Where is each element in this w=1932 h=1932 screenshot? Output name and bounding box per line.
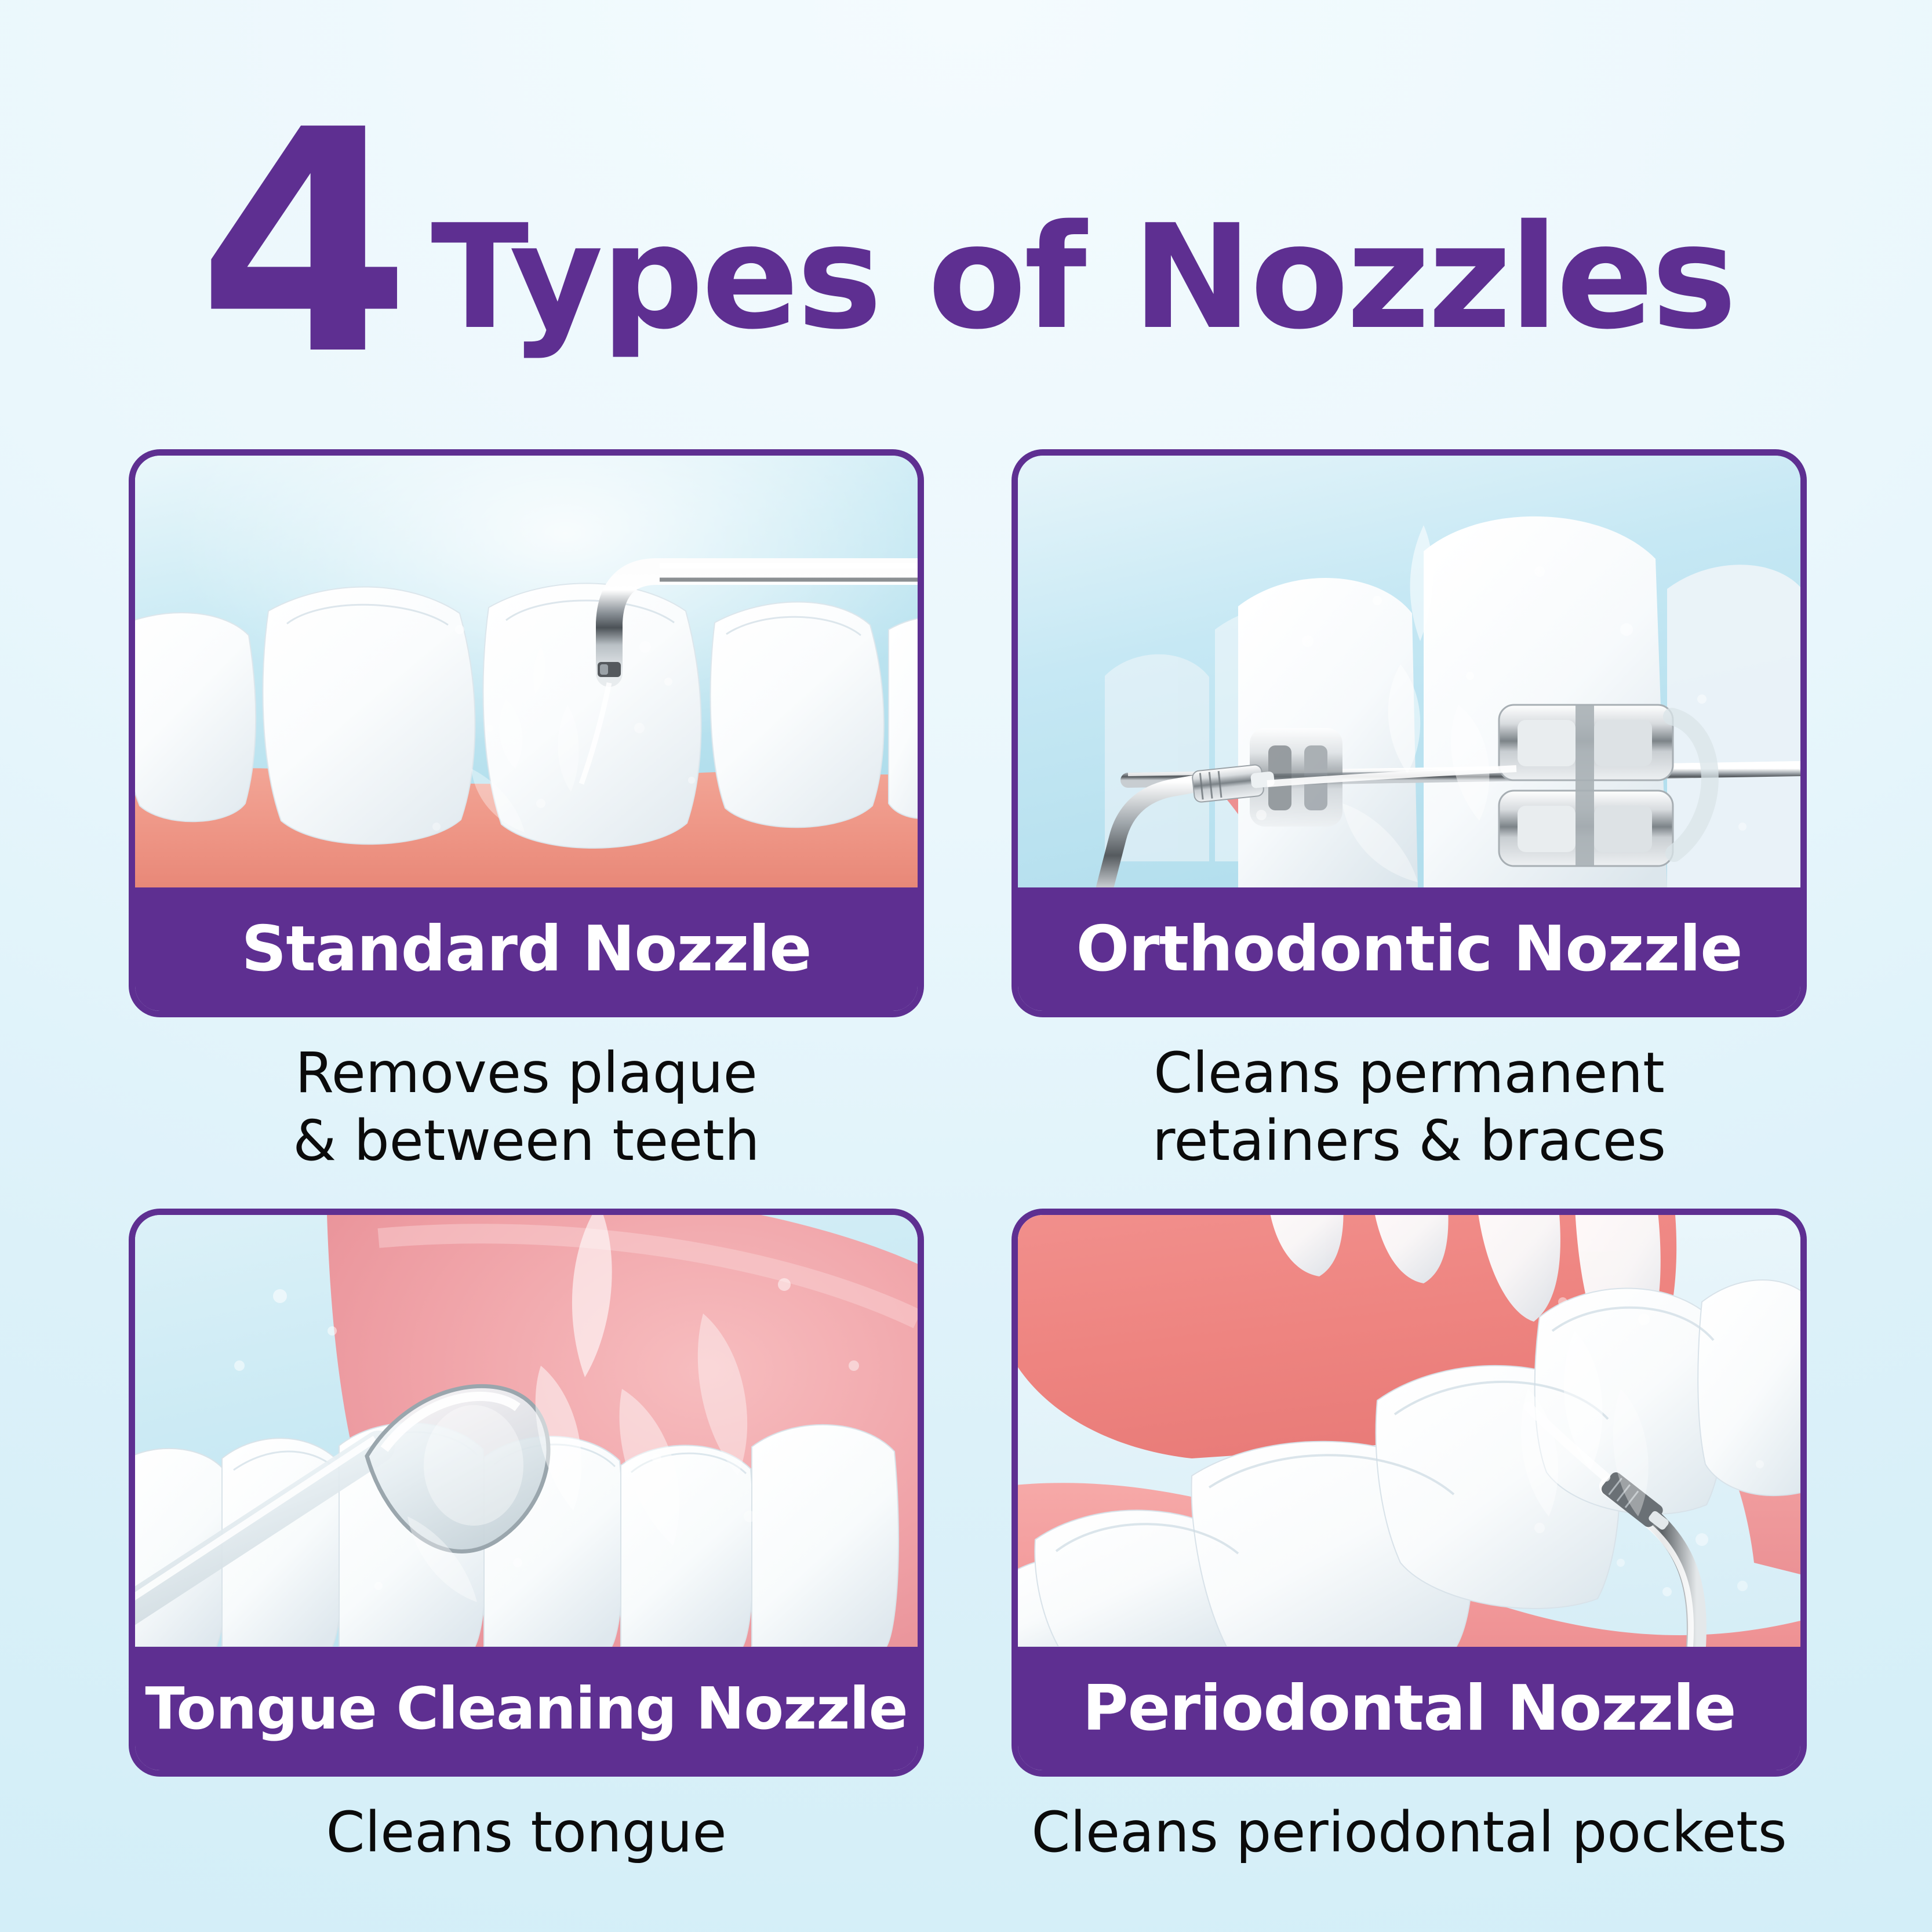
card-caption-tongue: Cleans tongue xyxy=(129,1799,924,1866)
card-label-tongue: Tongue Cleaning Nozzle xyxy=(135,1647,918,1770)
tongue-cleaning-nozzle-illustration xyxy=(135,1215,918,1647)
card-frame: Periodontal Nozzle xyxy=(1012,1209,1807,1777)
nozzle-card-tongue[interactable]: Tongue Cleaning Nozzle Cleans tongue xyxy=(129,1209,924,1777)
infographic-root: 4 Types of Nozzles xyxy=(0,0,1932,1932)
card-frame: Tongue Cleaning Nozzle xyxy=(129,1209,924,1777)
caption-line-1: Cleans tongue xyxy=(129,1799,924,1866)
caption-line-1: Removes plaque xyxy=(129,1039,924,1107)
nozzle-card-periodontal[interactable]: Periodontal Nozzle Cleans periodontal po… xyxy=(1012,1209,1807,1777)
card-label-standard: Standard Nozzle xyxy=(135,887,918,1011)
card-caption-orthodontic: Cleans permanent retainers & braces xyxy=(1012,1039,1807,1175)
card-caption-standard: Removes plaque & between teeth xyxy=(129,1039,924,1175)
card-label-orthodontic: Orthodontic Nozzle xyxy=(1018,887,1800,1011)
nozzle-card-orthodontic[interactable]: Orthodontic Nozzle Cleans permanent reta… xyxy=(1012,449,1807,1017)
periodontal-nozzle-gums-illustration xyxy=(1018,1215,1800,1647)
card-label-periodontal: Periodontal Nozzle xyxy=(1018,1647,1800,1770)
caption-line-2: & between teeth xyxy=(129,1107,924,1175)
caption-line-1: Cleans periodontal pockets xyxy=(1012,1799,1807,1866)
card-frame: Orthodontic Nozzle xyxy=(1012,449,1807,1017)
nozzle-card-standard[interactable]: Standard Nozzle Removes plaque & between… xyxy=(129,449,924,1017)
standard-nozzle-teeth-illustration xyxy=(135,456,918,887)
caption-line-1: Cleans permanent xyxy=(1012,1039,1807,1107)
card-caption-periodontal: Cleans periodontal pockets xyxy=(1012,1799,1807,1866)
orthodontic-nozzle-braces-illustration xyxy=(1018,456,1800,887)
caption-line-2: retainers & braces xyxy=(1012,1107,1807,1175)
card-frame: Standard Nozzle xyxy=(129,449,924,1017)
nozzle-card-grid: Standard Nozzle Removes plaque & between… xyxy=(0,0,1932,1932)
